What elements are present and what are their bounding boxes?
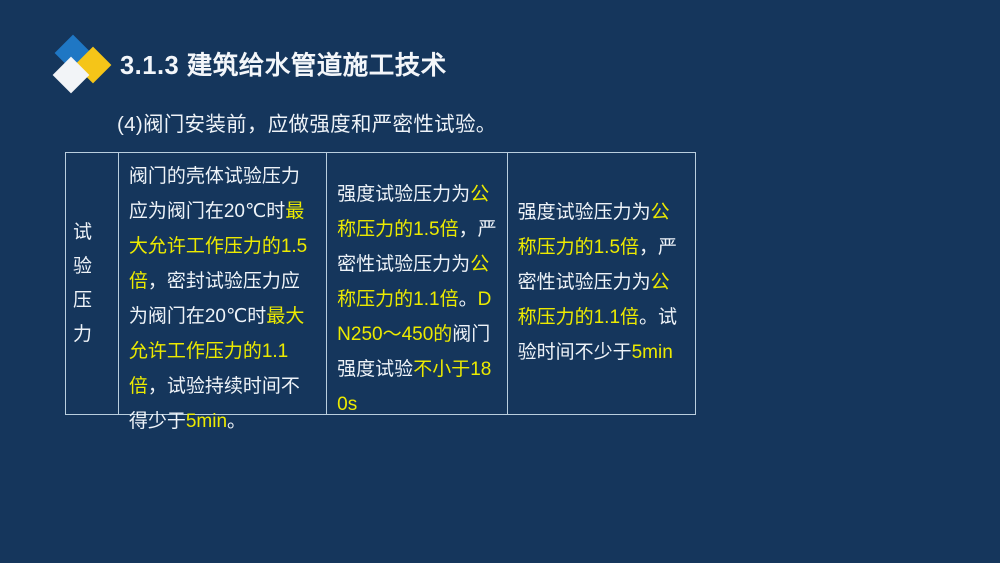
table-cell-standard-2: 强度试验压力为公称压力的1.5倍，严密性试验压力为公称压力的1.1倍。DN250… xyxy=(327,153,507,414)
table-row-label-line-1: 试验 xyxy=(73,216,111,284)
table-row-label-cell: 试验 压力 xyxy=(66,153,119,414)
plain-text: 阀门的壳体试验压力应为阀门在20℃时 xyxy=(129,166,300,222)
three-diamonds-logo xyxy=(52,38,118,90)
plain-text: 。 xyxy=(227,411,246,432)
table-cell-standard-2-text: 强度试验压力为公称压力的1.5倍，严密性试验压力为公称压力的1.1倍。DN250… xyxy=(327,177,506,422)
table-cell-standard-3: 强度试验压力为公称压力的1.5倍，严密性试验压力为公称压力的1.1倍。试验时间不… xyxy=(508,153,695,414)
slide-header: 3.1.3 建筑给水管道施工技术 xyxy=(0,0,1000,100)
highlighted-text: 5min xyxy=(632,342,673,363)
pressure-test-table: 试验 压力 阀门的壳体试验压力应为阀门在20℃时最大允许工作压力的1.5倍，密封… xyxy=(65,152,696,415)
plain-text: 。 xyxy=(459,289,478,310)
table-row-label-line-2: 压力 xyxy=(73,284,111,352)
table-cell-standard-3-text: 强度试验压力为公称压力的1.5倍，严密性试验压力为公称压力的1.1倍。试验时间不… xyxy=(508,195,695,370)
table-cell-standard-1-text: 阀门的壳体试验压力应为阀门在20℃时最大允许工作压力的1.5倍，密封试验压力应为… xyxy=(119,159,326,439)
table-cell-standard-1: 阀门的壳体试验压力应为阀门在20℃时最大允许工作压力的1.5倍，密封试验压力应为… xyxy=(119,153,327,414)
table-row-label-text: 试验 压力 xyxy=(66,216,118,352)
plain-text: 强度试验压力为 xyxy=(337,184,470,205)
page-title: 3.1.3 建筑给水管道施工技术 xyxy=(120,45,447,82)
highlighted-text: 5min xyxy=(186,411,227,432)
plain-text: 强度试验压力为 xyxy=(518,202,651,223)
intro-paragraph: (4)阀门安装前，应做强度和严密性试验。 xyxy=(117,107,497,137)
